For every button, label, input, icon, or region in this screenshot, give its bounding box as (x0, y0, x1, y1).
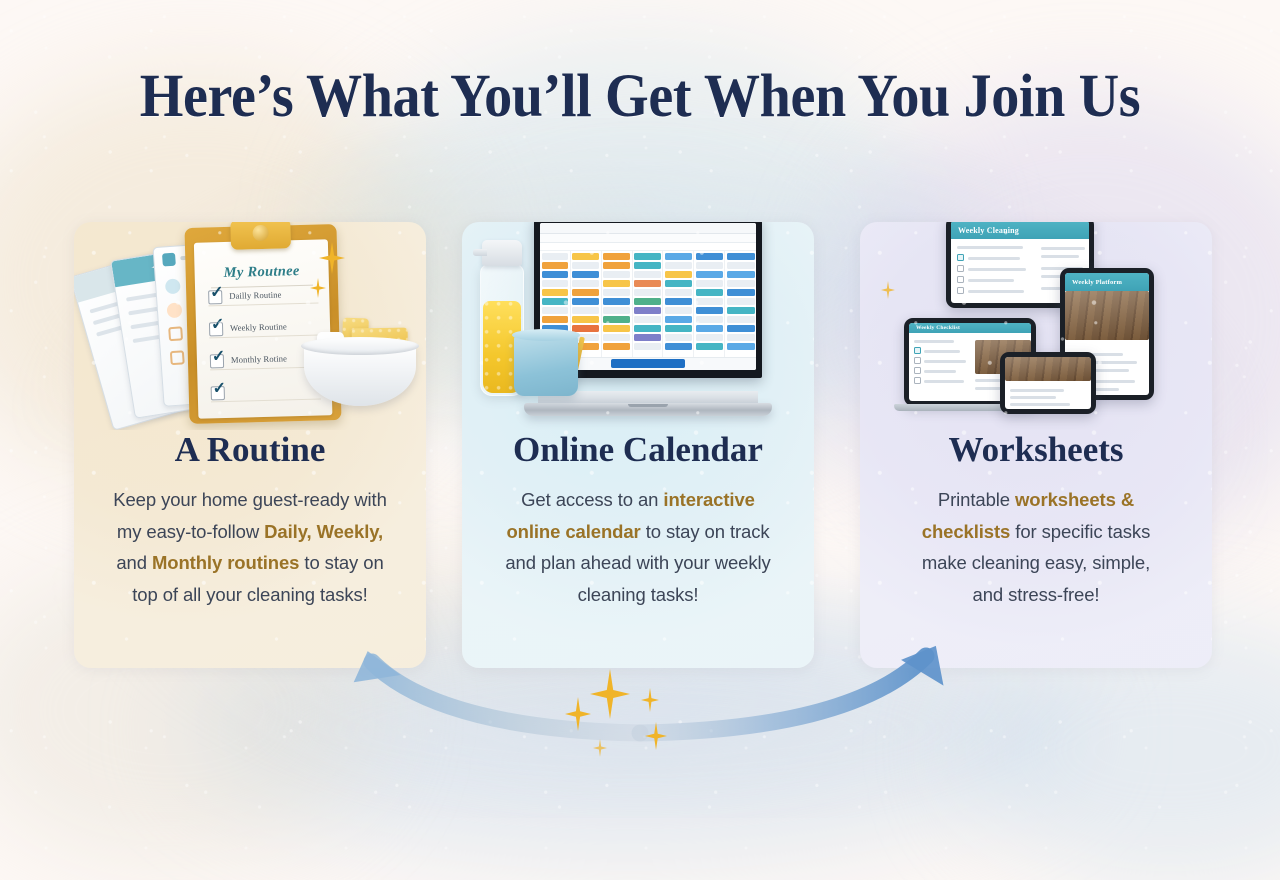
clipboard-item: ✓ Dailly Routine (208, 288, 318, 308)
card-title-worksheets: Worksheets (860, 430, 1212, 470)
card-a-routine[interactable]: ✦ (74, 222, 426, 668)
card-online-calendar[interactable]: Online Calendar Get access to an interac… (462, 222, 814, 668)
card-body-worksheets: Printable worksheets & checklists for sp… (876, 484, 1196, 610)
clipboard: My Routnee ✓ Dailly Routine ✓ Weekly Rou… (184, 224, 341, 424)
card-worksheets[interactable]: Weekly Cleaning Weekly Platform (860, 222, 1212, 668)
card-body-a-routine: Keep your home guest-ready with my easy-… (90, 484, 410, 610)
tablet-bottom (1000, 352, 1096, 414)
card-title-online-calendar: Online Calendar (462, 430, 814, 470)
tablet-top-header: Weekly Cleaning (951, 222, 1089, 239)
card-body-online-calendar: Get access to an interactive online cale… (478, 484, 798, 610)
card-worksheets-artwork: Weekly Cleaning Weekly Platform (860, 222, 1212, 430)
spray-nozzle (482, 240, 522, 266)
laptop-base (524, 403, 772, 416)
pen-cup (514, 334, 578, 396)
calendar-cta-button[interactable] (611, 359, 685, 368)
feature-cards: ✦ (0, 222, 1280, 672)
clipboard-heading: My Routnee (194, 262, 328, 283)
tablet-right-header: Weekly Platform (1065, 273, 1149, 291)
page-title: Here’s What You’ll Get When You Join Us (51, 62, 1229, 132)
laptop-left-header: Weekly Checklist (909, 323, 1031, 333)
card-a-routine-artwork: ✦ (74, 222, 426, 430)
card-title-a-routine: A Routine (74, 430, 426, 470)
card-online-calendar-artwork (462, 222, 814, 430)
clipboard-clip (230, 222, 291, 250)
clipboard-item: ✓ (211, 384, 321, 404)
clipboard-paper: My Routnee ✓ Dailly Routine ✓ Weekly Rou… (194, 239, 333, 418)
clipboard-item: ✓ Weekly Routine (209, 320, 319, 340)
